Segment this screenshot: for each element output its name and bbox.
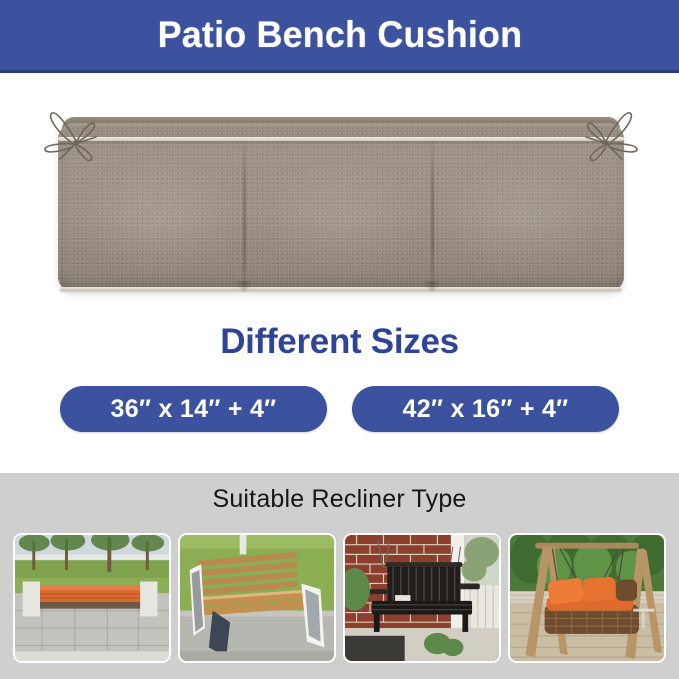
cushion-body xyxy=(58,123,624,291)
cushion-piping-bottom xyxy=(60,287,622,291)
cushion-seam-notch xyxy=(236,281,252,293)
header-banner: Patio Bench Cushion xyxy=(0,0,679,73)
thumbnail-wicker-aframe-swing[interactable] xyxy=(508,533,666,663)
page-title: Patio Bench Cushion xyxy=(157,14,522,56)
cushion-seam xyxy=(431,141,434,291)
thumbnail-orange-park-bench[interactable] xyxy=(13,533,171,663)
thumbnail-black-porch-swing[interactable] xyxy=(343,533,501,663)
sizes-heading: Different Sizes xyxy=(0,322,679,362)
product-hero xyxy=(0,73,679,317)
size-options: 36″ x 14″ + 4″ 42″ x 16″ + 4″ xyxy=(0,386,679,432)
recliner-thumbnail-list xyxy=(13,533,666,663)
cushion-seam xyxy=(243,141,246,291)
cushion-seam-notch xyxy=(424,281,440,293)
recliner-heading: Suitable Recliner Type xyxy=(0,485,679,514)
cushion-piping-top xyxy=(58,137,624,141)
cushion-image xyxy=(36,101,646,291)
thumbnail-wood-slat-bench[interactable] xyxy=(178,533,336,663)
size-option-1[interactable]: 36″ x 14″ + 4″ xyxy=(60,386,327,432)
size-option-2[interactable]: 42″ x 16″ + 4″ xyxy=(352,386,619,432)
